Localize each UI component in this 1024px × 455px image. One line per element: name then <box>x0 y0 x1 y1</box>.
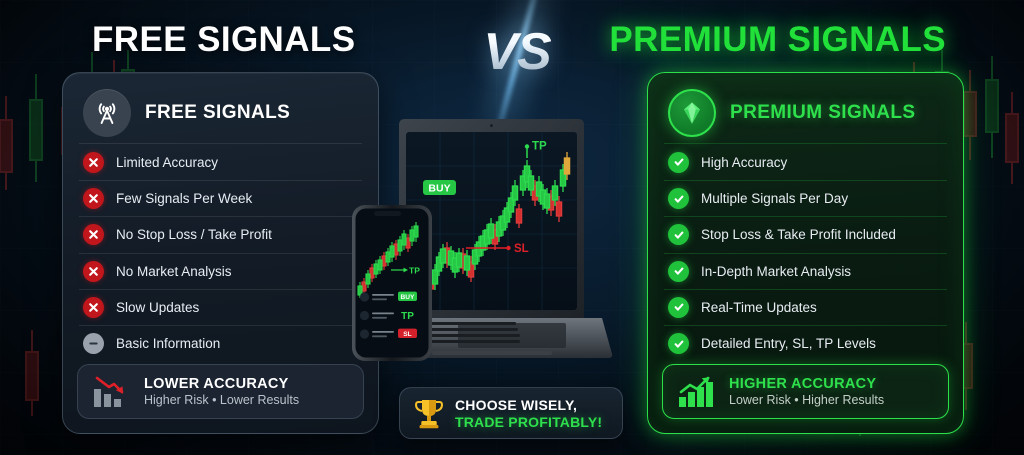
free-footer-banner: LOWER ACCURACY Higher Risk • Lower Resul… <box>77 364 364 419</box>
premium-card-title: PREMIUM SIGNALS <box>730 102 915 124</box>
svg-text:BUY: BUY <box>401 294 416 301</box>
list-item-label: High Accuracy <box>701 155 787 170</box>
choose-line-1: CHOOSE WISELY, <box>455 397 602 413</box>
list-item-label: Real-Time Updates <box>701 300 817 315</box>
cross-icon <box>83 224 104 245</box>
check-icon <box>668 261 689 282</box>
premium-footer-text: HIGHER ACCURACY Lower Risk • Higher Resu… <box>729 376 884 407</box>
list-item: In-Depth Market Analysis <box>664 253 947 289</box>
list-item-label: Limited Accuracy <box>116 155 218 170</box>
list-item: Multiple Signals Per Day <box>664 180 947 216</box>
bar-chart-down-icon <box>92 375 132 409</box>
free-signals-card: FREE SIGNALS Limited Accuracy Few Signal… <box>62 72 379 434</box>
free-card-title: FREE SIGNALS <box>145 102 290 124</box>
free-feature-list: Limited Accuracy Few Signals Per Week No… <box>79 143 362 361</box>
check-icon <box>668 224 689 245</box>
premium-card-header: PREMIUM SIGNALS <box>664 85 947 141</box>
buy-badge: BUY <box>423 180 456 195</box>
bar-chart-up-icon <box>677 375 717 409</box>
list-item: Real-Time Updates <box>664 289 947 325</box>
cross-icon <box>83 297 104 318</box>
free-card-header: FREE SIGNALS <box>79 85 362 141</box>
premium-footer-subtitle: Lower Risk • Higher Results <box>729 393 884 407</box>
poster-stage: FREE SIGNALS PREMIUM SIGNALS VS <box>0 0 1024 455</box>
list-item-label: Multiple Signals Per Day <box>701 191 848 206</box>
cross-icon <box>83 261 104 282</box>
list-item-label: Few Signals Per Week <box>116 191 252 206</box>
list-item: Basic Information <box>79 325 362 361</box>
check-icon <box>668 188 689 209</box>
list-item: Stop Loss & Take Profit Included <box>664 216 947 252</box>
trophy-icon <box>414 397 444 429</box>
free-footer-subtitle: Higher Risk • Lower Results <box>144 393 299 407</box>
broadcast-tower-icon <box>83 89 131 137</box>
svg-text:TP: TP <box>532 141 547 153</box>
list-item-label: In-Depth Market Analysis <box>701 264 851 279</box>
list-item-label: Slow Updates <box>116 300 199 315</box>
svg-text:SL: SL <box>403 331 411 338</box>
free-footer-title: LOWER ACCURACY <box>144 376 299 392</box>
list-item-label: No Market Analysis <box>116 264 232 279</box>
check-icon <box>668 297 689 318</box>
list-item: No Market Analysis <box>79 253 362 289</box>
check-icon <box>668 152 689 173</box>
dash-icon <box>83 333 104 354</box>
choose-wisely-banner: CHOOSE WISELY, TRADE PROFITABLY! <box>399 387 623 439</box>
list-item: Detailed Entry, SL, TP Levels <box>664 325 947 361</box>
free-footer-text: LOWER ACCURACY Higher Risk • Lower Resul… <box>144 376 299 407</box>
premium-footer-banner: HIGHER ACCURACY Lower Risk • Higher Resu… <box>662 364 949 419</box>
list-item: Limited Accuracy <box>79 144 362 180</box>
cross-icon <box>83 188 104 209</box>
choose-line-2: TRADE PROFITABLY! <box>455 414 602 430</box>
list-item-label: Basic Information <box>116 336 220 351</box>
svg-text:BUY: BUY <box>428 182 450 194</box>
vs-label: VS <box>462 22 572 82</box>
cross-icon <box>83 152 104 173</box>
vs-separator: VS <box>462 6 572 106</box>
list-item-label: Stop Loss & Take Profit Included <box>701 227 896 242</box>
svg-text:TP: TP <box>409 265 420 275</box>
list-item: High Accuracy <box>664 144 947 180</box>
phone-device: TP BUY TP <box>352 205 432 361</box>
svg-text:TP: TP <box>401 311 414 322</box>
list-item: Few Signals Per Week <box>79 180 362 216</box>
list-item: No Stop Loss / Take Profit <box>79 216 362 252</box>
choose-wisely-text: CHOOSE WISELY, TRADE PROFITABLY! <box>455 397 602 430</box>
check-icon <box>668 333 689 354</box>
premium-signals-card: PREMIUM SIGNALS High Accuracy Multiple S… <box>647 72 964 434</box>
device-mockups: BUY TP SL <box>336 118 636 370</box>
list-item: Slow Updates <box>79 289 362 325</box>
page-title-free: FREE SIGNALS <box>92 20 355 60</box>
list-item-label: No Stop Loss / Take Profit <box>116 227 272 242</box>
page-title-premium: PREMIUM SIGNALS <box>609 20 946 60</box>
list-item-label: Detailed Entry, SL, TP Levels <box>701 336 876 351</box>
diamond-icon <box>668 89 716 137</box>
svg-text:SL: SL <box>514 243 529 255</box>
premium-footer-title: HIGHER ACCURACY <box>729 376 884 392</box>
premium-feature-list: High Accuracy Multiple Signals Per Day S… <box>664 143 947 361</box>
